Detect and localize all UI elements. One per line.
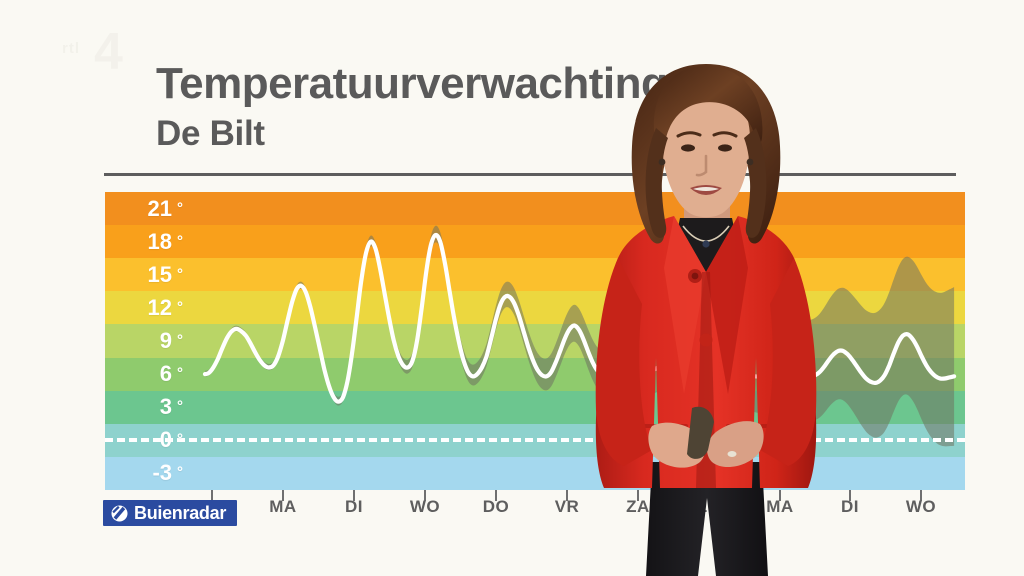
- y-axis-tick--3: -3°: [105, 462, 183, 484]
- presenter-eye-left: [681, 144, 695, 151]
- y-axis-tick-value: 3: [160, 394, 172, 419]
- degree-symbol-icon: °: [177, 299, 183, 316]
- presenter-figure: [556, 58, 856, 576]
- degree-symbol-icon: °: [177, 365, 183, 382]
- x-axis-label-WO-3: WO: [395, 497, 455, 517]
- y-axis-tick-21: 21°: [105, 198, 183, 220]
- y-axis-tick-value: 0: [160, 427, 172, 452]
- microphone-grille-icon: [692, 273, 699, 280]
- channel-number: 4: [94, 26, 123, 78]
- buienradar-swoosh-icon: [111, 505, 128, 522]
- x-axis-label-MA-1: MA: [253, 497, 313, 517]
- degree-symbol-icon: °: [177, 332, 183, 349]
- rtl4-channel-logo: rtl 4: [58, 24, 144, 78]
- y-axis-tick-6: 6°: [105, 363, 183, 385]
- x-axis-tick-1: [282, 490, 284, 501]
- y-axis-tick-value: 18: [148, 229, 172, 254]
- presenter-necklace-pendant: [702, 240, 709, 247]
- degree-symbol-icon: °: [177, 266, 183, 283]
- x-axis-tick-4: [495, 490, 497, 501]
- y-axis-tick-value: 21: [148, 196, 172, 221]
- y-axis-tick-3: 3°: [105, 396, 183, 418]
- x-axis-label-DO-4: DO: [466, 497, 526, 517]
- presenter-eye-right: [718, 144, 732, 151]
- y-axis-tick-value: 9: [160, 328, 172, 353]
- degree-symbol-icon: °: [177, 464, 183, 481]
- x-axis-tick-2: [353, 490, 355, 501]
- presenter-earring-left: [659, 159, 666, 166]
- x-axis-tick-10: [920, 490, 922, 501]
- y-axis-labels: 21°18°15°12°9°6°3°0°-3°: [105, 192, 191, 490]
- x-axis-label-DI-2: DI: [324, 497, 384, 517]
- y-axis-tick-18: 18°: [105, 231, 183, 253]
- buienradar-logo[interactable]: Buienradar: [103, 500, 237, 526]
- degree-symbol-icon: °: [177, 398, 183, 415]
- degree-symbol-icon: °: [177, 431, 183, 448]
- y-axis-tick-15: 15°: [105, 264, 183, 286]
- presenter-earring-right: [747, 159, 754, 166]
- buienradar-label: Buienradar: [134, 504, 226, 522]
- degree-symbol-icon: °: [177, 200, 183, 217]
- y-axis-tick-value: 12: [148, 295, 172, 320]
- y-axis-tick-0: 0°: [105, 429, 183, 451]
- y-axis-tick-value: 15: [148, 262, 172, 287]
- degree-symbol-icon: °: [177, 233, 183, 250]
- x-axis-tick-3: [424, 490, 426, 501]
- presenter-ring: [728, 451, 737, 457]
- y-axis-tick-9: 9°: [105, 330, 183, 352]
- y-axis-tick-value: 6: [160, 361, 172, 386]
- weather-broadcast-screen: rtl 4 Temperatuurverwachting De Bilt 21°…: [0, 0, 1024, 576]
- presenter-jacket-button-top: [700, 334, 713, 347]
- y-axis-tick-12: 12°: [105, 297, 183, 319]
- rtl-wordmark: rtl: [62, 40, 80, 57]
- y-axis-tick-value: -3: [152, 460, 172, 485]
- x-axis-label-WO-10: WO: [891, 497, 951, 517]
